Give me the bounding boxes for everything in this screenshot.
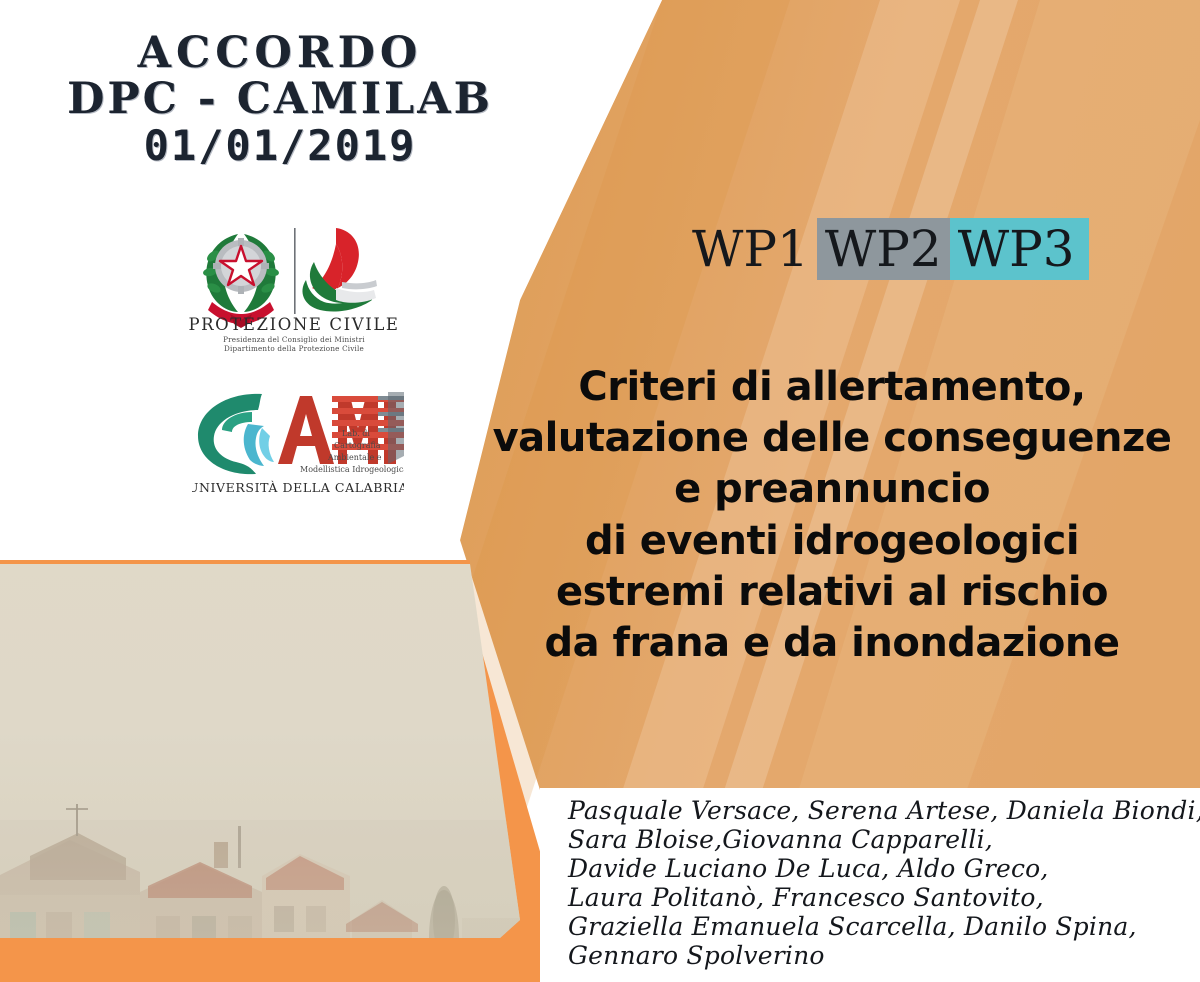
main-title-line-2: valutazione delle conseguenze xyxy=(462,413,1200,464)
authors-line-1: Pasquale Versace, Serena Artese, Daniela… xyxy=(568,796,1200,825)
main-title-line-6: da frana e da inondazione xyxy=(462,618,1200,669)
accord-heading-line-3: 01/01/2019 xyxy=(0,123,560,168)
main-title: Criteri di allertamento, valutazione del… xyxy=(462,362,1200,669)
protezione-civile-name: PROTEZIONE CIVILE xyxy=(188,315,399,334)
italian-republic-emblem-icon xyxy=(202,234,279,328)
protezione-civile-subtitle-1: Presidenza del Consiglio dei Ministri xyxy=(223,335,365,344)
wp3-badge[interactable]: WP3 xyxy=(950,218,1089,280)
main-title-line-3: e preannuncio xyxy=(462,464,1200,515)
authors-line-5: Graziella Emanuela Scarcella, Danilo Spi… xyxy=(568,912,1200,941)
town-photograph xyxy=(0,520,540,982)
authors-line-4: Laura Politanò, Francesco Santovito, xyxy=(568,883,1200,912)
authors-line-3: Davide Luciano De Luca, Aldo Greco, xyxy=(568,854,1200,883)
accord-heading-line-1: ACCORDO xyxy=(0,30,560,76)
camilab-university: UNIVERSITÀ DELLA CALABRIA xyxy=(192,480,404,495)
work-package-badges: WP1 WP2 WP3 xyxy=(684,218,1089,280)
camilab-desc-2: Cartografia xyxy=(334,441,381,450)
wp2-badge[interactable]: WP2 xyxy=(817,218,950,280)
main-title-line-5: estremi relativi al rischio xyxy=(462,567,1200,618)
authors-panel: Pasquale Versace, Serena Artese, Daniela… xyxy=(540,788,1200,982)
accord-heading: ACCORDO DPC - CAMILAB 01/01/2019 xyxy=(0,30,560,168)
protezione-civile-mark-icon xyxy=(302,228,377,312)
protezione-civile-logo: PROTEZIONE CIVILE Presidenza del Consigl… xyxy=(186,214,402,354)
camilab-desc-1: Lab. di xyxy=(342,429,370,438)
authors-line-2: Sara Bloise,Giovanna Capparelli, xyxy=(568,825,1200,854)
main-title-line-1: Criteri di allertamento, xyxy=(462,362,1200,413)
camilab-desc-3: Ambientale e xyxy=(327,453,382,462)
authors-line-6: Gennaro Spolverino xyxy=(568,941,1200,970)
main-title-line-4: di eventi idrogeologici xyxy=(462,516,1200,567)
logo-divider xyxy=(294,228,296,314)
authors-list: Pasquale Versace, Serena Artese, Daniela… xyxy=(568,796,1200,970)
camilab-desc-4: Modellistica Idrogeologica xyxy=(300,465,404,474)
presentation-slide: ACCORDO DPC - CAMILAB 01/01/2019 xyxy=(0,0,1200,982)
camilab-logo: Lab. di Cartografia Ambientale e Modelli… xyxy=(192,372,404,500)
wp1-badge[interactable]: WP1 xyxy=(684,218,817,280)
protezione-civile-subtitle-2: Dipartimento della Protezione Civile xyxy=(224,344,364,353)
accord-heading-line-2: DPC - CAMILAB xyxy=(0,76,560,122)
